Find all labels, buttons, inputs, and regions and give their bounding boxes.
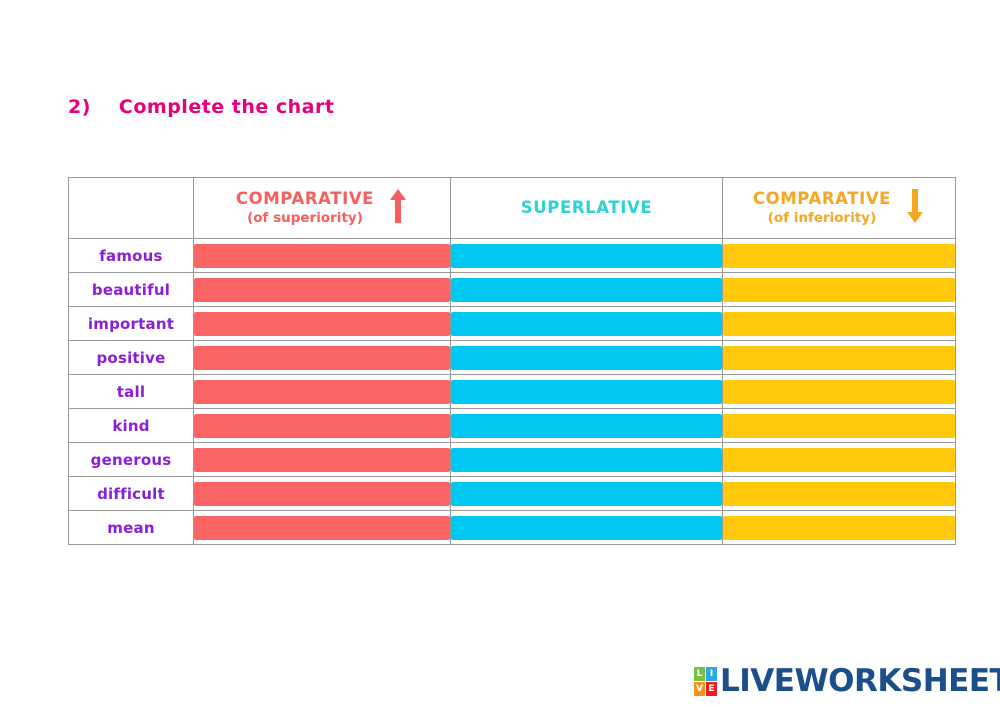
answer-input-superlative[interactable] (451, 482, 722, 506)
answer-input-superlative[interactable] (451, 414, 722, 438)
table-row: mean (69, 511, 956, 545)
answer-input-comparative-inferiority[interactable] (723, 312, 955, 336)
exercise-number: 2) (68, 96, 91, 118)
answer-input-superlative[interactable] (451, 516, 722, 540)
adjective-label: difficult (69, 477, 194, 511)
answer-input-comparative-superiority[interactable] (194, 414, 450, 438)
table-header-row: COMPARATIVE (of superiority) SUPERLATIVE (69, 178, 956, 239)
logo-tile-l: L (694, 667, 705, 681)
answer-input-comparative-superiority[interactable] (194, 346, 450, 370)
answer-cell-superlative (451, 477, 723, 511)
answer-cell-comparative-superiority (194, 307, 451, 341)
header-cell-comparative-inferiority: COMPARATIVE (of inferiority) (723, 178, 956, 239)
header-label-comparative-superiority: COMPARATIVE (236, 189, 374, 208)
table-row: generous (69, 443, 956, 477)
answer-input-comparative-superiority[interactable] (194, 482, 450, 506)
answer-cell-superlative (451, 511, 723, 545)
answer-cell-comparative-inferiority (723, 341, 956, 375)
table-row: tall (69, 375, 956, 409)
answer-cell-superlative (451, 307, 723, 341)
adjective-label: important (69, 307, 194, 341)
answer-input-comparative-superiority[interactable] (194, 312, 450, 336)
header-sublabel-comparative-inferiority: (of inferiority) (768, 211, 877, 227)
table-row: positive (69, 341, 956, 375)
answer-cell-superlative (451, 273, 723, 307)
adjective-label: tall (69, 375, 194, 409)
answer-input-comparative-superiority[interactable] (194, 516, 450, 540)
header-label-comparative-inferiority: COMPARATIVE (753, 189, 891, 208)
answer-cell-comparative-superiority (194, 341, 451, 375)
header-label-superlative: SUPERLATIVE (521, 198, 652, 217)
logo-tile-v: V (694, 682, 705, 696)
answer-cell-comparative-superiority (194, 443, 451, 477)
answer-input-superlative[interactable] (451, 448, 722, 472)
answer-input-superlative[interactable] (451, 380, 722, 404)
answer-cell-comparative-inferiority (723, 239, 956, 273)
table-row: kind (69, 409, 956, 443)
answer-input-comparative-superiority[interactable] (194, 244, 450, 268)
answer-cell-comparative-inferiority (723, 443, 956, 477)
answer-cell-comparative-superiority (194, 477, 451, 511)
answer-input-superlative[interactable] (451, 312, 722, 336)
logo-tile-e: E (706, 682, 717, 696)
answer-input-comparative-superiority[interactable] (194, 448, 450, 472)
answer-cell-comparative-superiority (194, 511, 451, 545)
comparatives-chart-table: COMPARATIVE (of superiority) SUPERLATIVE (68, 177, 956, 545)
adjective-label: beautiful (69, 273, 194, 307)
table-row: beautiful (69, 273, 956, 307)
answer-cell-comparative-superiority (194, 409, 451, 443)
adjective-label: mean (69, 511, 194, 545)
exercise-heading: 2) Complete the chart (68, 96, 334, 118)
table-row: difficult (69, 477, 956, 511)
answer-cell-superlative (451, 443, 723, 477)
arrow-down-icon (905, 187, 925, 229)
header-cell-superlative: SUPERLATIVE (451, 178, 723, 239)
answer-cell-comparative-inferiority (723, 511, 956, 545)
answer-cell-comparative-inferiority (723, 375, 956, 409)
arrow-up-icon (388, 187, 408, 229)
adjective-label: famous (69, 239, 194, 273)
answer-cell-superlative (451, 239, 723, 273)
adjective-label: positive (69, 341, 194, 375)
answer-cell-comparative-superiority (194, 375, 451, 409)
answer-input-superlative[interactable] (451, 244, 722, 268)
answer-input-comparative-inferiority[interactable] (723, 414, 955, 438)
answer-input-comparative-inferiority[interactable] (723, 516, 955, 540)
liveworksheets-logo-mark: L I V E (694, 667, 717, 696)
answer-input-comparative-inferiority[interactable] (723, 380, 955, 404)
answer-input-comparative-inferiority[interactable] (723, 346, 955, 370)
answer-cell-comparative-inferiority (723, 477, 956, 511)
answer-cell-comparative-inferiority (723, 273, 956, 307)
table-row: important (69, 307, 956, 341)
header-cell-corner (69, 178, 194, 239)
logo-tile-i: I (706, 667, 717, 681)
answer-cell-comparative-superiority (194, 239, 451, 273)
liveworksheets-logo: L I V E LIVEWORKSHEETS (694, 666, 1000, 697)
adjective-label: kind (69, 409, 194, 443)
header-cell-comparative-superiority: COMPARATIVE (of superiority) (194, 178, 451, 239)
answer-input-comparative-superiority[interactable] (194, 278, 450, 302)
answer-cell-superlative (451, 409, 723, 443)
table-row: famous (69, 239, 956, 273)
header-sublabel-comparative-superiority: (of superiority) (247, 211, 363, 227)
answer-cell-comparative-superiority (194, 273, 451, 307)
answer-input-comparative-inferiority[interactable] (723, 278, 955, 302)
answer-input-superlative[interactable] (451, 346, 722, 370)
answer-input-comparative-inferiority[interactable] (723, 482, 955, 506)
answer-input-comparative-inferiority[interactable] (723, 448, 955, 472)
adjective-label: generous (69, 443, 194, 477)
liveworksheets-wordmark: LIVEWORKSHEETS (720, 666, 1000, 697)
answer-cell-superlative (451, 341, 723, 375)
answer-cell-comparative-inferiority (723, 307, 956, 341)
answer-input-superlative[interactable] (451, 278, 722, 302)
answer-cell-superlative (451, 375, 723, 409)
answer-input-comparative-superiority[interactable] (194, 380, 450, 404)
answer-cell-comparative-inferiority (723, 409, 956, 443)
answer-input-comparative-inferiority[interactable] (723, 244, 955, 268)
exercise-instruction: Complete the chart (119, 96, 335, 118)
